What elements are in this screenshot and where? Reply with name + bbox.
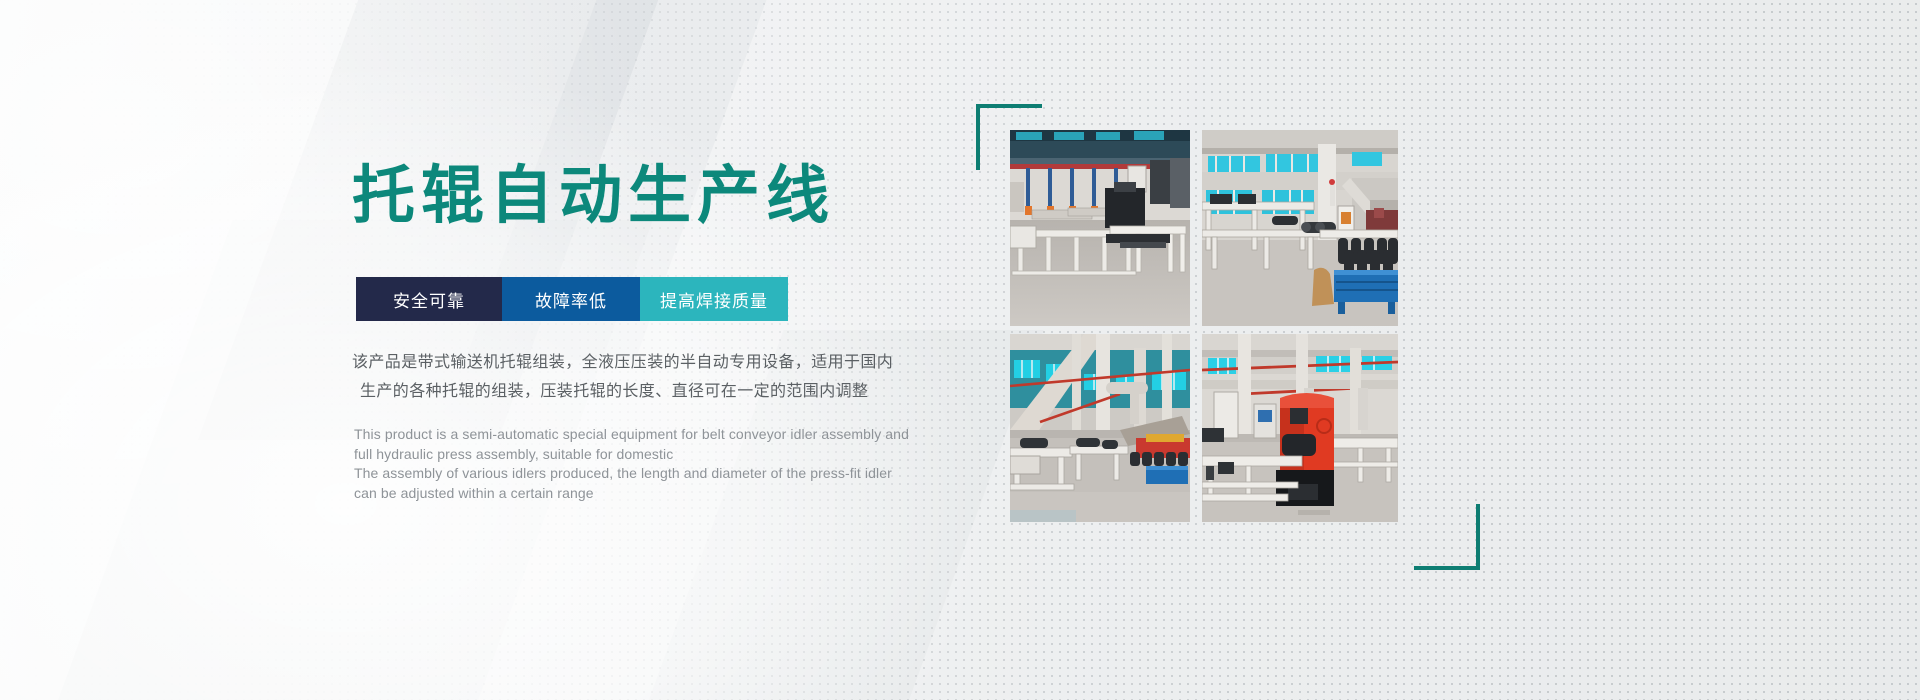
description-en-line-2: full hydraulic press assembly, suitable … — [354, 445, 954, 465]
feature-tag-list: 安全可靠 故障率低 提高焊接质量 — [356, 277, 788, 321]
description-en-line-3: The assembly of various idlers produced,… — [354, 464, 954, 484]
idler-conveyor-line-photo[interactable] — [1010, 130, 1190, 326]
production-hall-photo[interactable] — [1010, 334, 1190, 522]
corner-bracket-bottom-right-icon — [1414, 504, 1480, 570]
banner-copy-column: 托辊自动生产线 安全可靠 故障率低 提高焊接质量 该产品是带式输送机托辊组装，全… — [352, 0, 972, 700]
red-welding-machine-photo[interactable] — [1202, 334, 1398, 522]
description-en-line-4: can be adjusted within a certain range — [354, 484, 954, 504]
feature-tag-low-failure[interactable]: 故障率低 — [502, 277, 640, 321]
page-title: 托辊自动生产线 — [352, 165, 835, 228]
description-cn-line-1: 该产品是带式输送机托辊组装，全液压压装的半自动专用设备，适用于国内 — [352, 354, 893, 371]
description-chinese: 该产品是带式输送机托辊组装，全液压压装的半自动专用设备，适用于国内 生产的各种托… — [352, 348, 952, 406]
idler-workshop-photo[interactable] — [1202, 130, 1398, 326]
feature-tag-weld-quality[interactable]: 提高焊接质量 — [640, 277, 788, 321]
description-english: This product is a semi-automatic special… — [354, 425, 954, 503]
product-banner: 托辊自动生产线 安全可靠 故障率低 提高焊接质量 该产品是带式输送机托辊组装，全… — [0, 0, 1920, 700]
description-en-line-1: This product is a semi-automatic special… — [354, 425, 954, 445]
description-cn-line-2: 生产的各种托辊的组装，压装托辊的长度、直径可在一定的范围内调整 — [352, 377, 952, 406]
product-photo-gallery — [1010, 130, 1410, 532]
feature-tag-safety[interactable]: 安全可靠 — [356, 277, 502, 321]
